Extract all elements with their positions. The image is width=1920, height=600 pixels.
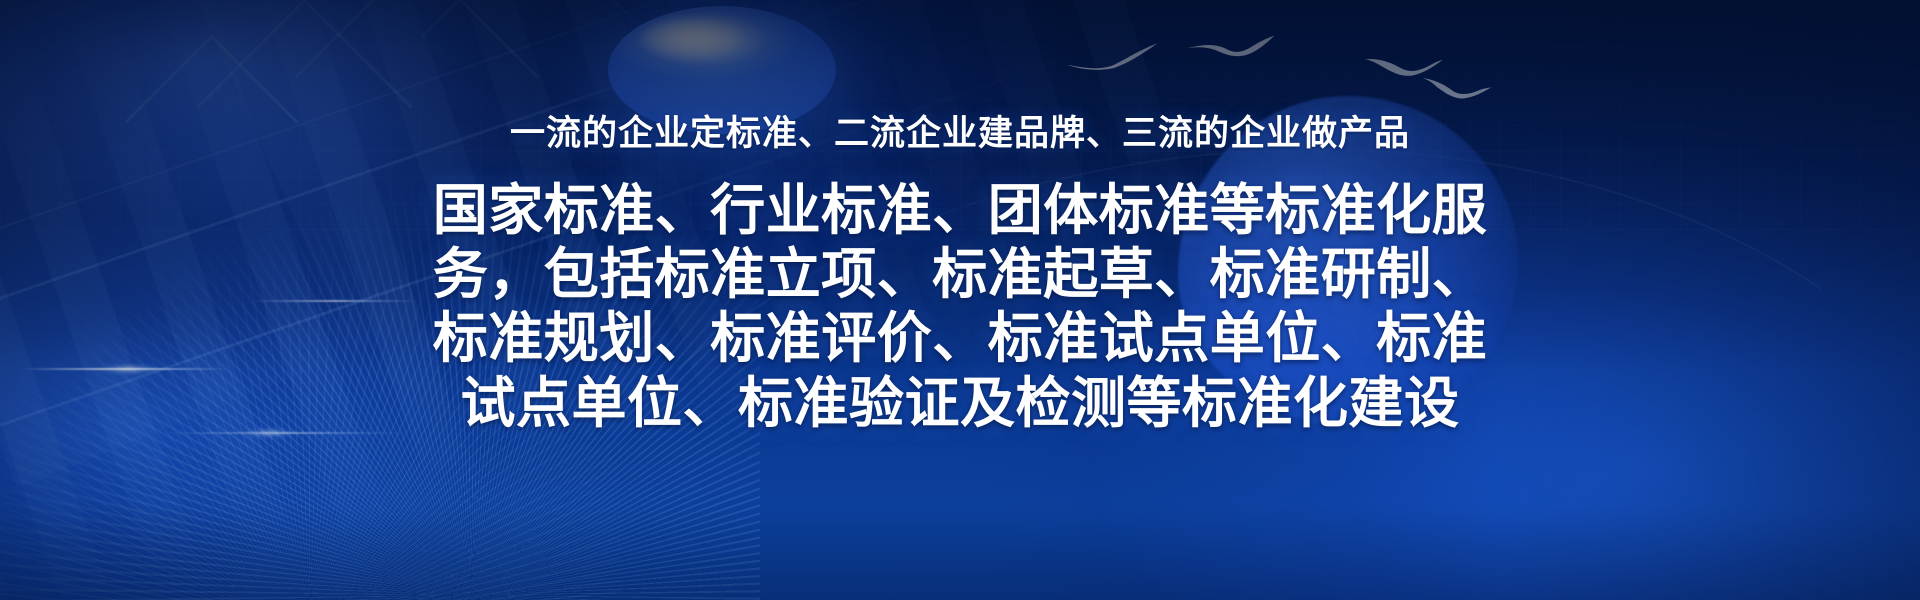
banner-body-text: 国家标准、行业标准、团体标准等标准化服 务，包括标准立项、标准起草、标准研制、 … xyxy=(430,178,1490,435)
banner-text-container: 一流的企业定标准、二流企业建品牌、三流的企业做产品 国家标准、行业标准、团体标准… xyxy=(0,0,1920,600)
banner-body-line-3: 标准规划、标准评价、标准试点单位、标准 xyxy=(430,306,1490,370)
banner-headline: 一流的企业定标准、二流企业建品牌、三流的企业做产品 xyxy=(510,112,1410,156)
banner-body-line-4: 试点单位、标准验证及检测等标准化建设 xyxy=(430,371,1490,435)
banner-body-line-2: 务，包括标准立项、标准起草、标准研制、 xyxy=(430,242,1490,306)
banner-body-line-1: 国家标准、行业标准、团体标准等标准化服 xyxy=(430,178,1490,242)
promotional-banner: 一流的企业定标准、二流企业建品牌、三流的企业做产品 国家标准、行业标准、团体标准… xyxy=(0,0,1920,600)
